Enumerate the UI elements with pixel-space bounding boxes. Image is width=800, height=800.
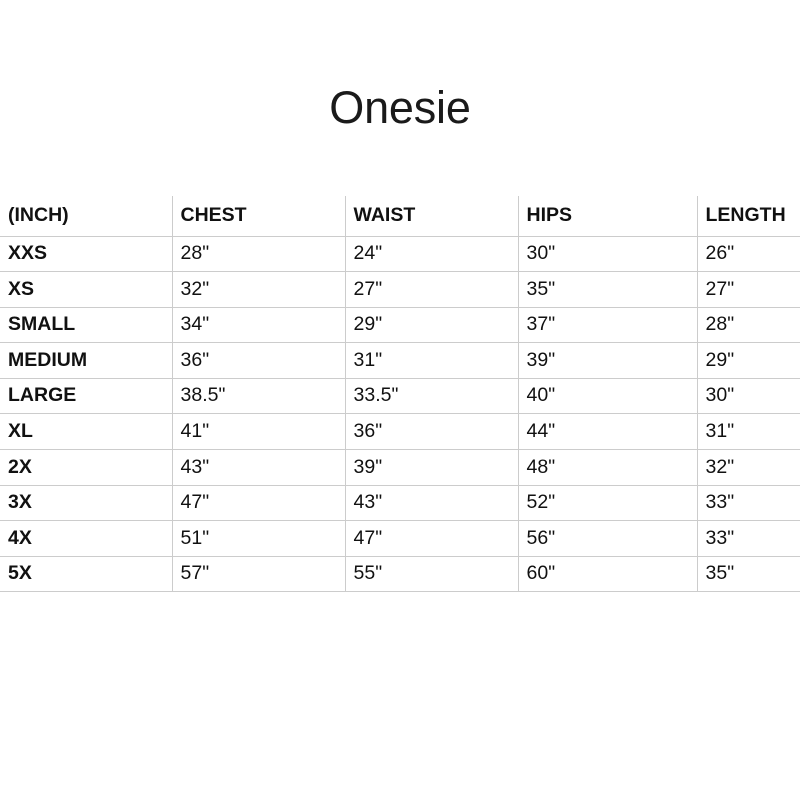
cell-chest: 34": [172, 307, 345, 343]
cell-waist: 31": [345, 343, 518, 379]
table-row: MEDIUM36"31"39"29": [0, 343, 800, 379]
cell-hips: 60": [518, 556, 697, 592]
column-header-hips: HIPS: [518, 196, 697, 236]
table-row: 2X43"39"48"32": [0, 450, 800, 486]
cell-length: 30": [697, 378, 800, 414]
cell-hips: 40": [518, 378, 697, 414]
cell-hips: 48": [518, 450, 697, 486]
column-header-waist: WAIST: [345, 196, 518, 236]
cell-chest: 47": [172, 485, 345, 521]
cell-chest: 41": [172, 414, 345, 450]
cell-chest: 32": [172, 272, 345, 308]
column-header-unit: (INCH): [0, 196, 172, 236]
cell-length: 28": [697, 307, 800, 343]
row-header-size: XL: [0, 414, 172, 450]
cell-length: 32": [697, 450, 800, 486]
column-header-length: LENGTH: [697, 196, 800, 236]
row-header-size: XXS: [0, 236, 172, 272]
row-header-size: 3X: [0, 485, 172, 521]
table-row: XS32"27"35"27": [0, 272, 800, 308]
cell-chest: 28": [172, 236, 345, 272]
cell-chest: 51": [172, 521, 345, 557]
table-row: XXS28"24"30"26": [0, 236, 800, 272]
table-header-row: (INCH) CHEST WAIST HIPS LENGTH: [0, 196, 800, 236]
row-header-size: 5X: [0, 556, 172, 592]
cell-waist: 43": [345, 485, 518, 521]
cell-length: 26": [697, 236, 800, 272]
cell-waist: 39": [345, 450, 518, 486]
cell-hips: 52": [518, 485, 697, 521]
cell-chest: 38.5": [172, 378, 345, 414]
column-header-chest: CHEST: [172, 196, 345, 236]
table-row: 4X51"47"56"33": [0, 521, 800, 557]
table-row: LARGE38.5"33.5"40"30": [0, 378, 800, 414]
row-header-size: 2X: [0, 450, 172, 486]
cell-waist: 55": [345, 556, 518, 592]
row-header-size: XS: [0, 272, 172, 308]
cell-waist: 47": [345, 521, 518, 557]
cell-waist: 27": [345, 272, 518, 308]
cell-length: 31": [697, 414, 800, 450]
row-header-size: SMALL: [0, 307, 172, 343]
table-row: 5X57"55"60"35": [0, 556, 800, 592]
cell-hips: 37": [518, 307, 697, 343]
cell-hips: 44": [518, 414, 697, 450]
cell-waist: 36": [345, 414, 518, 450]
cell-length: 29": [697, 343, 800, 379]
cell-length: 27": [697, 272, 800, 308]
cell-chest: 57": [172, 556, 345, 592]
row-header-size: LARGE: [0, 378, 172, 414]
size-chart-table: (INCH) CHEST WAIST HIPS LENGTH XXS28"24"…: [0, 196, 800, 592]
cell-chest: 36": [172, 343, 345, 379]
row-header-size: MEDIUM: [0, 343, 172, 379]
cell-chest: 43": [172, 450, 345, 486]
row-header-size: 4X: [0, 521, 172, 557]
cell-length: 33": [697, 521, 800, 557]
cell-hips: 39": [518, 343, 697, 379]
cell-waist: 33.5": [345, 378, 518, 414]
table-row: SMALL34"29"37"28": [0, 307, 800, 343]
cell-waist: 24": [345, 236, 518, 272]
page-title: Onesie: [0, 84, 800, 131]
cell-length: 33": [697, 485, 800, 521]
cell-hips: 56": [518, 521, 697, 557]
cell-waist: 29": [345, 307, 518, 343]
cell-length: 35": [697, 556, 800, 592]
table-row: XL41"36"44"31": [0, 414, 800, 450]
table-row: 3X47"43"52"33": [0, 485, 800, 521]
cell-hips: 35": [518, 272, 697, 308]
cell-hips: 30": [518, 236, 697, 272]
